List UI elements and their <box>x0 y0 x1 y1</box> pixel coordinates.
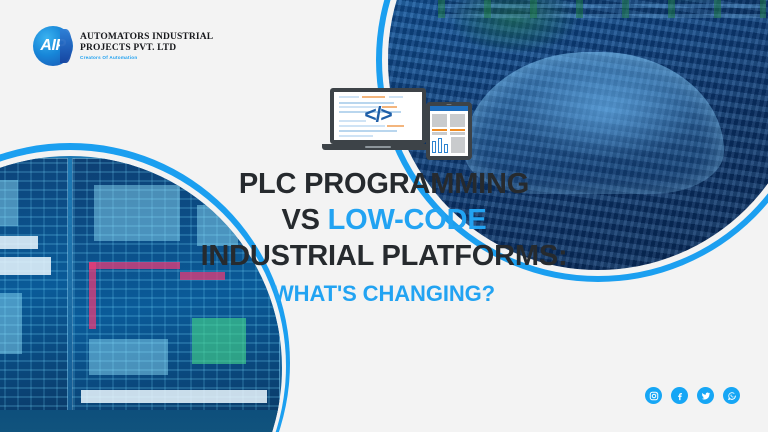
headline-subtitle: WHAT'S CHANGING? <box>0 278 768 310</box>
headline-line-2-prefix: VS <box>281 204 327 236</box>
instagram-icon[interactable] <box>645 387 662 404</box>
whatsapp-icon[interactable] <box>723 387 740 404</box>
brand-name-line2: PROJECTS PVT. LTD <box>80 43 213 54</box>
brand-name-line1: AUTOMATORS INDUSTRIAL <box>80 32 213 43</box>
social-links <box>645 387 740 404</box>
control-room-desk <box>0 410 282 432</box>
brand-logo[interactable]: AIP AUTOMATORS INDUSTRIAL PROJECTS PVT. … <box>33 26 213 66</box>
laptop-with-code-icon: </> <box>330 88 426 150</box>
logo-mark-text: AIP <box>40 38 65 54</box>
aip-logo-icon: AIP <box>33 26 73 66</box>
brand-name-block: AUTOMATORS INDUSTRIAL PROJECTS PVT. LTD … <box>80 32 213 60</box>
facebook-icon[interactable] <box>671 387 688 404</box>
twitter-icon[interactable] <box>697 387 714 404</box>
code-symbol: </> <box>364 104 391 128</box>
brand-tagline: Creators Of Automation <box>80 55 213 60</box>
tablet-with-dashboard-icon <box>426 102 472 160</box>
devices-illustration: </> <box>322 88 472 160</box>
headline-line-2-highlight: LOW-CODE <box>328 204 487 236</box>
headline-line-1: PLC PROGRAMMING <box>0 166 768 202</box>
poster-canvas: AIP AUTOMATORS INDUSTRIAL PROJECTS PVT. … <box>0 0 768 432</box>
headline-line-3: INDUSTRIAL PLATFORMS: <box>0 238 768 274</box>
headline-line-2: VS LOW-CODE <box>0 202 768 238</box>
headline-block: PLC PROGRAMMING VS LOW-CODE INDUSTRIAL P… <box>0 166 768 310</box>
